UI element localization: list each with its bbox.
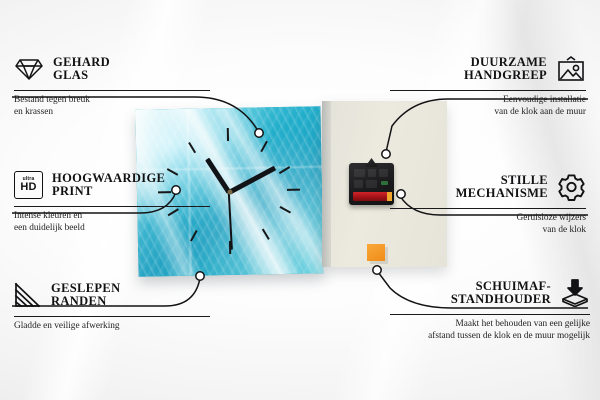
feature-divider <box>14 206 210 207</box>
feature-header: ultra HD HOOGWAARDIGE PRINT <box>14 168 210 202</box>
feature-header: GESLEPEN RANDEN <box>14 278 210 312</box>
mechanism-detail <box>354 169 365 177</box>
feature-title: DUURZAME HANDGREEP <box>464 56 547 83</box>
foam-spacer-pad <box>367 244 385 261</box>
feature-description-line2: en krassen <box>14 107 210 119</box>
feature-divider <box>390 208 586 209</box>
mechanism-detail <box>354 180 363 188</box>
feature-title: HOOGWAARDIGE PRINT <box>52 172 165 199</box>
feature-header: STILLE MECHANISME <box>390 170 586 204</box>
clock-tick <box>227 128 229 141</box>
feature-description-line2: van de klok <box>390 225 586 237</box>
foam-spacer-icon <box>560 279 590 307</box>
feature-title: STILLE MECHANISME <box>456 174 548 201</box>
feature-gehard-glas[interactable]: GEHARD GLAS Bestand tegen breuk en krass… <box>14 52 210 118</box>
feature-divider <box>14 90 210 91</box>
gear-icon <box>557 173 586 201</box>
picture-frame-icon <box>556 56 586 83</box>
ultra-hd-main-text: HD <box>20 182 36 193</box>
feature-description-line1: Gladde en veilige afwerking <box>14 321 210 333</box>
feature-header: GEHARD GLAS <box>14 52 210 86</box>
feature-header: DUURZAME HANDGREEP <box>390 52 586 86</box>
beveled-edges-icon <box>14 282 42 308</box>
feature-description-line2: een duidelijk beeld <box>14 223 210 235</box>
clock-mechanism <box>349 163 394 205</box>
feature-duurzame-handgreep[interactable]: DUURZAME HANDGREEP Eenvoudige installati… <box>390 52 586 118</box>
mechanism-detail <box>379 169 388 177</box>
feature-title: SCHUIMAF- STANDHOUDER <box>451 280 551 307</box>
feature-header: SCHUIMAF- STANDHOUDER <box>390 276 590 310</box>
feature-divider <box>390 314 590 315</box>
feature-description-line1: Eenvoudige installatie <box>390 95 586 107</box>
feature-description-line1: Intense kleuren en <box>14 211 210 223</box>
feature-description-line1: Geruisloze wijzers <box>390 213 586 225</box>
feature-stille-mechanisme[interactable]: STILLE MECHANISME Geruisloze wijzers van… <box>390 170 586 236</box>
mechanism-detail <box>366 180 377 188</box>
feature-description-line1: Bestand tegen breuk <box>14 95 210 107</box>
feature-description-line1: Maakt het behouden van een gelijke <box>390 319 590 331</box>
clock-back-edge <box>322 101 331 267</box>
mechanism-detail <box>368 169 376 177</box>
clock-battery <box>353 192 389 201</box>
feature-divider <box>390 90 586 91</box>
mechanism-detail <box>381 181 388 185</box>
connector-endpoint-schuimaf-standhouder <box>373 266 381 274</box>
infographic-stage: GEHARD GLAS Bestand tegen breuk en krass… <box>0 0 600 400</box>
feature-description-line2: afstand tussen de klok en de muur mogeli… <box>390 331 590 343</box>
feature-geslepen-randen[interactable]: GESLEPEN RANDEN Gladde en veilige afwerk… <box>14 278 210 333</box>
clock-center-cap <box>227 189 232 194</box>
ultra-hd-badge-icon: ultra HD <box>14 171 43 199</box>
feature-divider <box>14 316 210 317</box>
feature-schuimaf-standhouder[interactable]: SCHUIMAF- STANDHOUDER Maakt het behouden… <box>390 276 590 342</box>
feature-description-line2: van de klok aan de muur <box>390 107 586 119</box>
feature-title: GESLEPEN RANDEN <box>51 282 121 309</box>
diamond-icon <box>14 57 44 81</box>
feature-title: GEHARD GLAS <box>53 56 110 83</box>
feature-hoogwaardige-print[interactable]: ultra HD HOOGWAARDIGE PRINT Intense kleu… <box>14 168 210 234</box>
mechanism-hanger <box>365 158 378 167</box>
clock-tick <box>287 189 300 191</box>
